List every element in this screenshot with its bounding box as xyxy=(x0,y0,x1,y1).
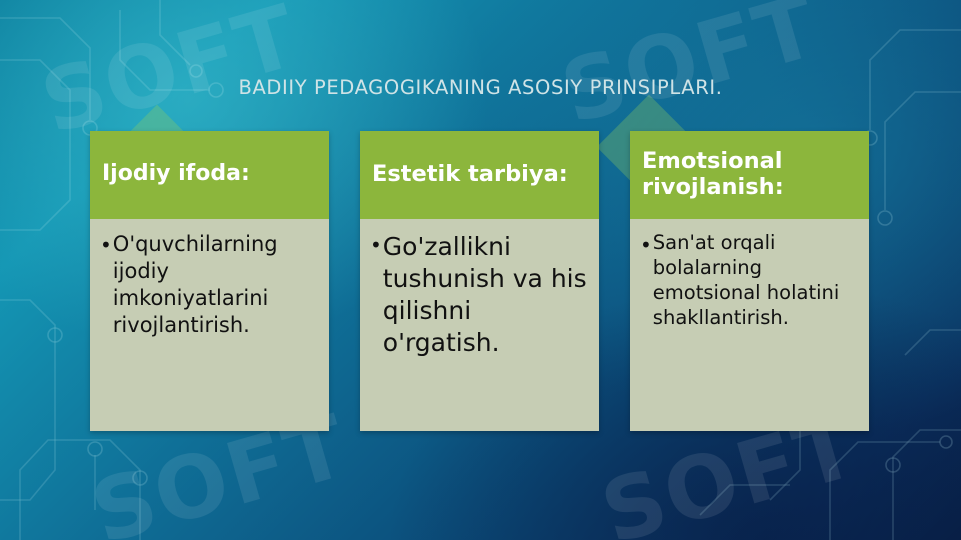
bullet-icon: • xyxy=(370,235,383,255)
card-body: • O'quvchilarning ijodiy imkoniyatlarini… xyxy=(90,219,329,431)
card-body: • San'at orqali bolalarning emotsional h… xyxy=(630,219,869,431)
card-body-text: San'at orqali bolalarning emotsional hol… xyxy=(653,231,859,331)
slide: SOFT SOFT SOFT SOFT BADIIY PEDAGOGIKANIN… xyxy=(0,0,961,540)
card-heading-text: Ijodiy ifoda xyxy=(102,161,241,186)
card-heading-text: Emotsional rivojlanish xyxy=(642,148,783,200)
card-header: Ijodiy ifoda: xyxy=(90,131,329,219)
card-heading-text: Estetik tarbiya xyxy=(372,161,559,187)
card-ijodiy-ifoda: Ijodiy ifoda: • O'quvchilarning ijodiy i… xyxy=(90,131,329,431)
bullet-icon: • xyxy=(100,235,113,255)
card-header: Emotsional rivojlanish: xyxy=(630,131,869,219)
card-group: Ijodiy ifoda: • O'quvchilarning ijodiy i… xyxy=(90,131,870,431)
card-heading-colon: : xyxy=(775,174,784,200)
bullet-icon: • xyxy=(640,235,653,255)
card-heading-colon: : xyxy=(559,161,568,187)
card-heading-colon: : xyxy=(241,161,250,186)
card-header: Estetik tarbiya: xyxy=(360,131,599,219)
watermark-text: SOFT xyxy=(551,0,829,144)
card-body-text: O'quvchilarning ijodiy imkoniyatlarini r… xyxy=(113,231,319,339)
card-body-text: Go'zallikni tushunish va his qilishni o'… xyxy=(383,231,589,359)
card-body: • Go'zallikni tushunish va his qilishni … xyxy=(360,219,599,431)
card-estetik-tarbiya: Estetik tarbiya: • Go'zallikni tushunish… xyxy=(360,131,599,431)
slide-title: BADIIY PEDAGOGIKANING ASOSIY PRINSIPLARI… xyxy=(0,76,961,99)
card-emotsional-rivojlanish: Emotsional rivojlanish: • San'at orqali … xyxy=(630,131,869,431)
